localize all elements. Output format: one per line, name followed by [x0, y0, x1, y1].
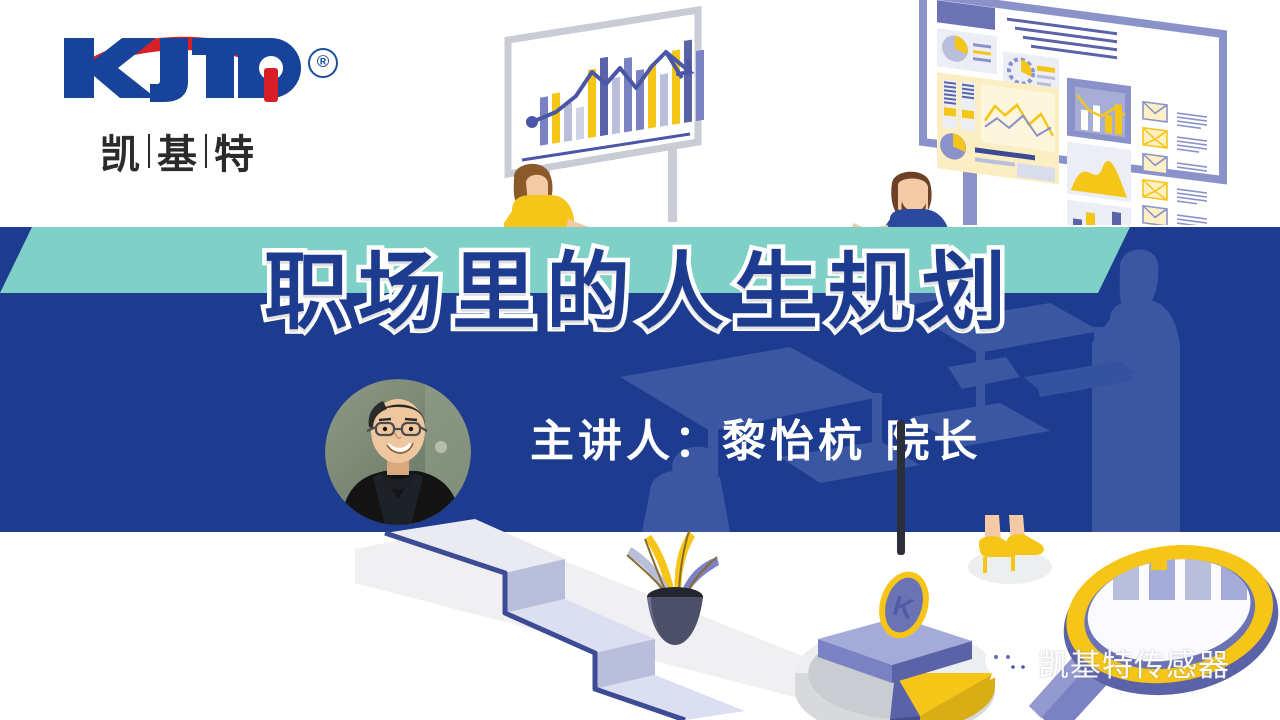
logo-divider-2: [205, 134, 207, 168]
watermark-label: 凯基特传感器: [1038, 640, 1230, 685]
speaker-portrait-icon: [325, 379, 471, 525]
registered-trademark-icon: ®: [308, 48, 338, 78]
logo-chinese-subtitle: 凯 基 特: [100, 122, 255, 180]
logo-divider-1: [148, 134, 150, 168]
logo-char-1: 凯: [100, 122, 141, 180]
speaker-avatar: [325, 379, 471, 525]
kjtdq-wordmark-icon: [56, 28, 306, 104]
logo-char-3: 特: [214, 122, 255, 180]
wechat-watermark: 凯基特传感器: [985, 640, 1230, 685]
logo-char-2: 基: [157, 122, 198, 180]
isometric-staircase-icon: [355, 515, 825, 720]
svg-text:K: K: [889, 590, 917, 625]
brand-logo: ® 凯 基 特: [56, 28, 346, 168]
analytics-dashboard-screen-icon: [905, 0, 1280, 225]
page-title: 职场里的人生规划: [0, 250, 1280, 334]
wechat-icon: [985, 644, 1031, 682]
slide-canvas: ® 凯 基 特: [0, 0, 1280, 720]
presenter-chart-board-icon: [500, 0, 740, 237]
speaker-name-label: 主讲人：黎怡杭 院长: [530, 405, 981, 469]
magnifying-glass-icon: [1025, 530, 1280, 720]
pie-chart-3d-icon: K: [790, 555, 1000, 720]
